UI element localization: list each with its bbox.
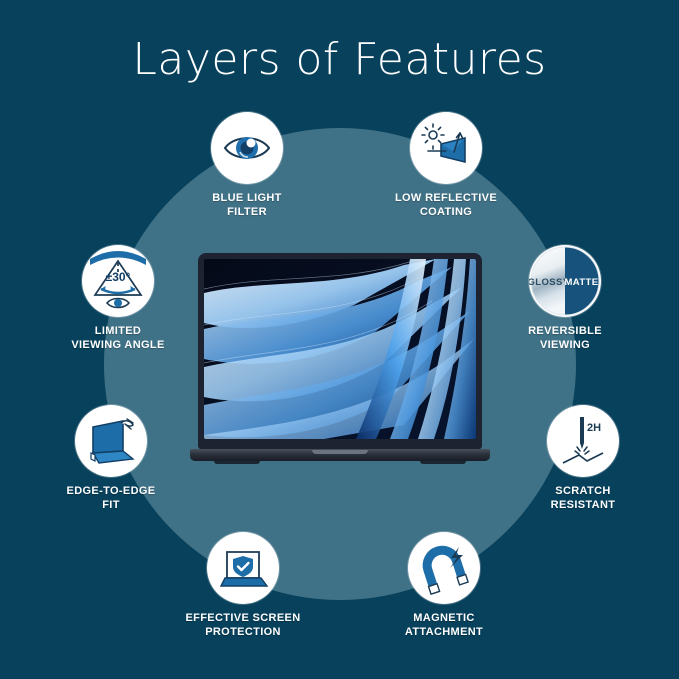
laptop-foot-right: [420, 461, 466, 464]
feature-label: MAGNETIC ATTACHMENT: [369, 611, 519, 639]
feature-edge-to-edge-fit: EDGE-TO-EDGE FIT: [36, 405, 186, 512]
feature-limited-viewing-angle: ±30° LIMITED VIEWING ANGLE: [43, 245, 193, 352]
feature-label: LOW REFLECTIVE COATING: [371, 191, 521, 219]
feature-badge: [408, 532, 480, 604]
feature-badge: [207, 532, 279, 604]
sun-glare-screen-icon: [420, 122, 472, 174]
wallpaper-abstract-ribbons: [204, 259, 476, 439]
page-title: Layers of Features: [0, 34, 679, 85]
eye-icon: [221, 122, 273, 174]
feature-label: SCRATCH RESISTANT: [508, 484, 658, 512]
feature-label: EFFECTIVE SCREEN PROTECTION: [168, 611, 318, 639]
laptop-film-hand-icon: [83, 413, 139, 469]
feature-badge: ±30°: [82, 245, 154, 317]
hardness-value: 2H: [587, 422, 601, 434]
magnet-icon: [417, 541, 471, 595]
feature-label: REVERSIBLE VIEWING: [490, 324, 640, 352]
shield-check-laptop-icon: [215, 540, 271, 596]
viewing-angle-icon: ±30°: [82, 245, 154, 317]
feature-blue-light-filter: BLUE LIGHT FILTER: [172, 112, 322, 219]
feature-label: LIMITED VIEWING ANGLE: [43, 324, 193, 352]
laptop-notch: [312, 450, 368, 454]
pencil-scratch-icon: 2H: [553, 411, 613, 471]
viewing-angle-value: ±30°: [106, 270, 131, 284]
matte-label: MATTE: [564, 277, 598, 288]
laptop-foot-left: [214, 461, 260, 464]
feature-label: BLUE LIGHT FILTER: [172, 191, 322, 219]
feature-scratch-resistant: 2H SCRATCH RESISTANT: [508, 405, 658, 512]
feature-badge: [75, 405, 147, 477]
feature-effective-screen-protection: EFFECTIVE SCREEN PROTECTION: [168, 532, 318, 639]
feature-reversible-viewing: GLOSSY MATTE REVERSIBLE VIEWING: [490, 245, 640, 352]
feature-badge: [211, 112, 283, 184]
infographic-page: Layers of Features: [0, 0, 679, 679]
feature-badge: [410, 112, 482, 184]
glossy-matte-icon: GLOSSY MATTE: [529, 245, 601, 317]
feature-badge: GLOSSY MATTE: [529, 245, 601, 317]
laptop-lid: [198, 253, 482, 449]
feature-low-reflective-coating: LOW REFLECTIVE COATING: [371, 112, 521, 219]
laptop-base: [190, 449, 490, 461]
laptop-screen: [204, 259, 476, 439]
laptop-image: [190, 253, 490, 478]
feature-badge: 2H: [547, 405, 619, 477]
feature-label: EDGE-TO-EDGE FIT: [36, 484, 186, 512]
feature-magnetic-attachment: MAGNETIC ATTACHMENT: [369, 532, 519, 639]
